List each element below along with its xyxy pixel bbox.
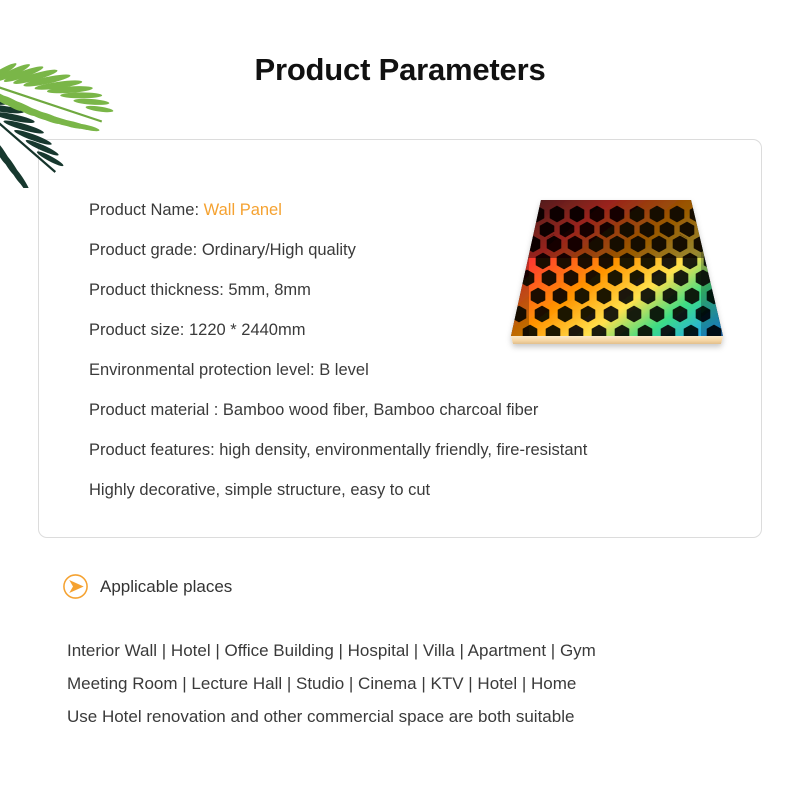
spec-value: high density, environmentally friendly, … xyxy=(219,441,587,459)
spec-row-extra-features: Highly decorative, simple structure, eas… xyxy=(89,470,729,510)
spec-value: 1220 * 2440mm xyxy=(189,321,306,339)
applicable-places-line: Use Hotel renovation and other commercia… xyxy=(67,700,767,733)
spec-value: B level xyxy=(319,361,369,379)
orange-play-arrow-icon xyxy=(62,573,89,600)
product-parameters-card: Product Name: Wall Panel Product grade: … xyxy=(38,139,762,538)
applicable-places-list: Interior Wall | Hotel | Office Building … xyxy=(67,634,767,733)
spec-label: Product features: xyxy=(89,441,215,459)
hexagon-wall-panel-image xyxy=(495,188,735,368)
applicable-places-header: Applicable places xyxy=(62,573,232,600)
spec-row-product-features: Product features: high density, environm… xyxy=(89,430,729,470)
applicable-places-title: Applicable places xyxy=(100,577,232,597)
spec-label: Product size: xyxy=(89,321,184,339)
applicable-places-line: Interior Wall | Hotel | Office Building … xyxy=(67,634,767,667)
spec-label: Environmental protection level: xyxy=(89,361,315,379)
spec-label: Product grade: xyxy=(89,241,197,259)
spec-label: Product thickness: xyxy=(89,281,224,299)
spec-value: Bamboo wood fiber, Bamboo charcoal fiber xyxy=(223,401,539,419)
spec-value: Ordinary/High quality xyxy=(202,241,356,259)
spec-label: Highly decorative, simple structure, eas… xyxy=(89,481,430,499)
page-title: Product Parameters xyxy=(0,52,800,88)
spec-value: 5mm, 8mm xyxy=(228,281,311,299)
spec-label: Product material : xyxy=(89,401,218,419)
spec-value: Wall Panel xyxy=(204,201,282,219)
applicable-places-line: Meeting Room | Lecture Hall | Studio | C… xyxy=(67,667,767,700)
spec-row-product-material: Product material : Bamboo wood fiber, Ba… xyxy=(89,390,729,430)
spec-label: Product Name: xyxy=(89,201,199,219)
